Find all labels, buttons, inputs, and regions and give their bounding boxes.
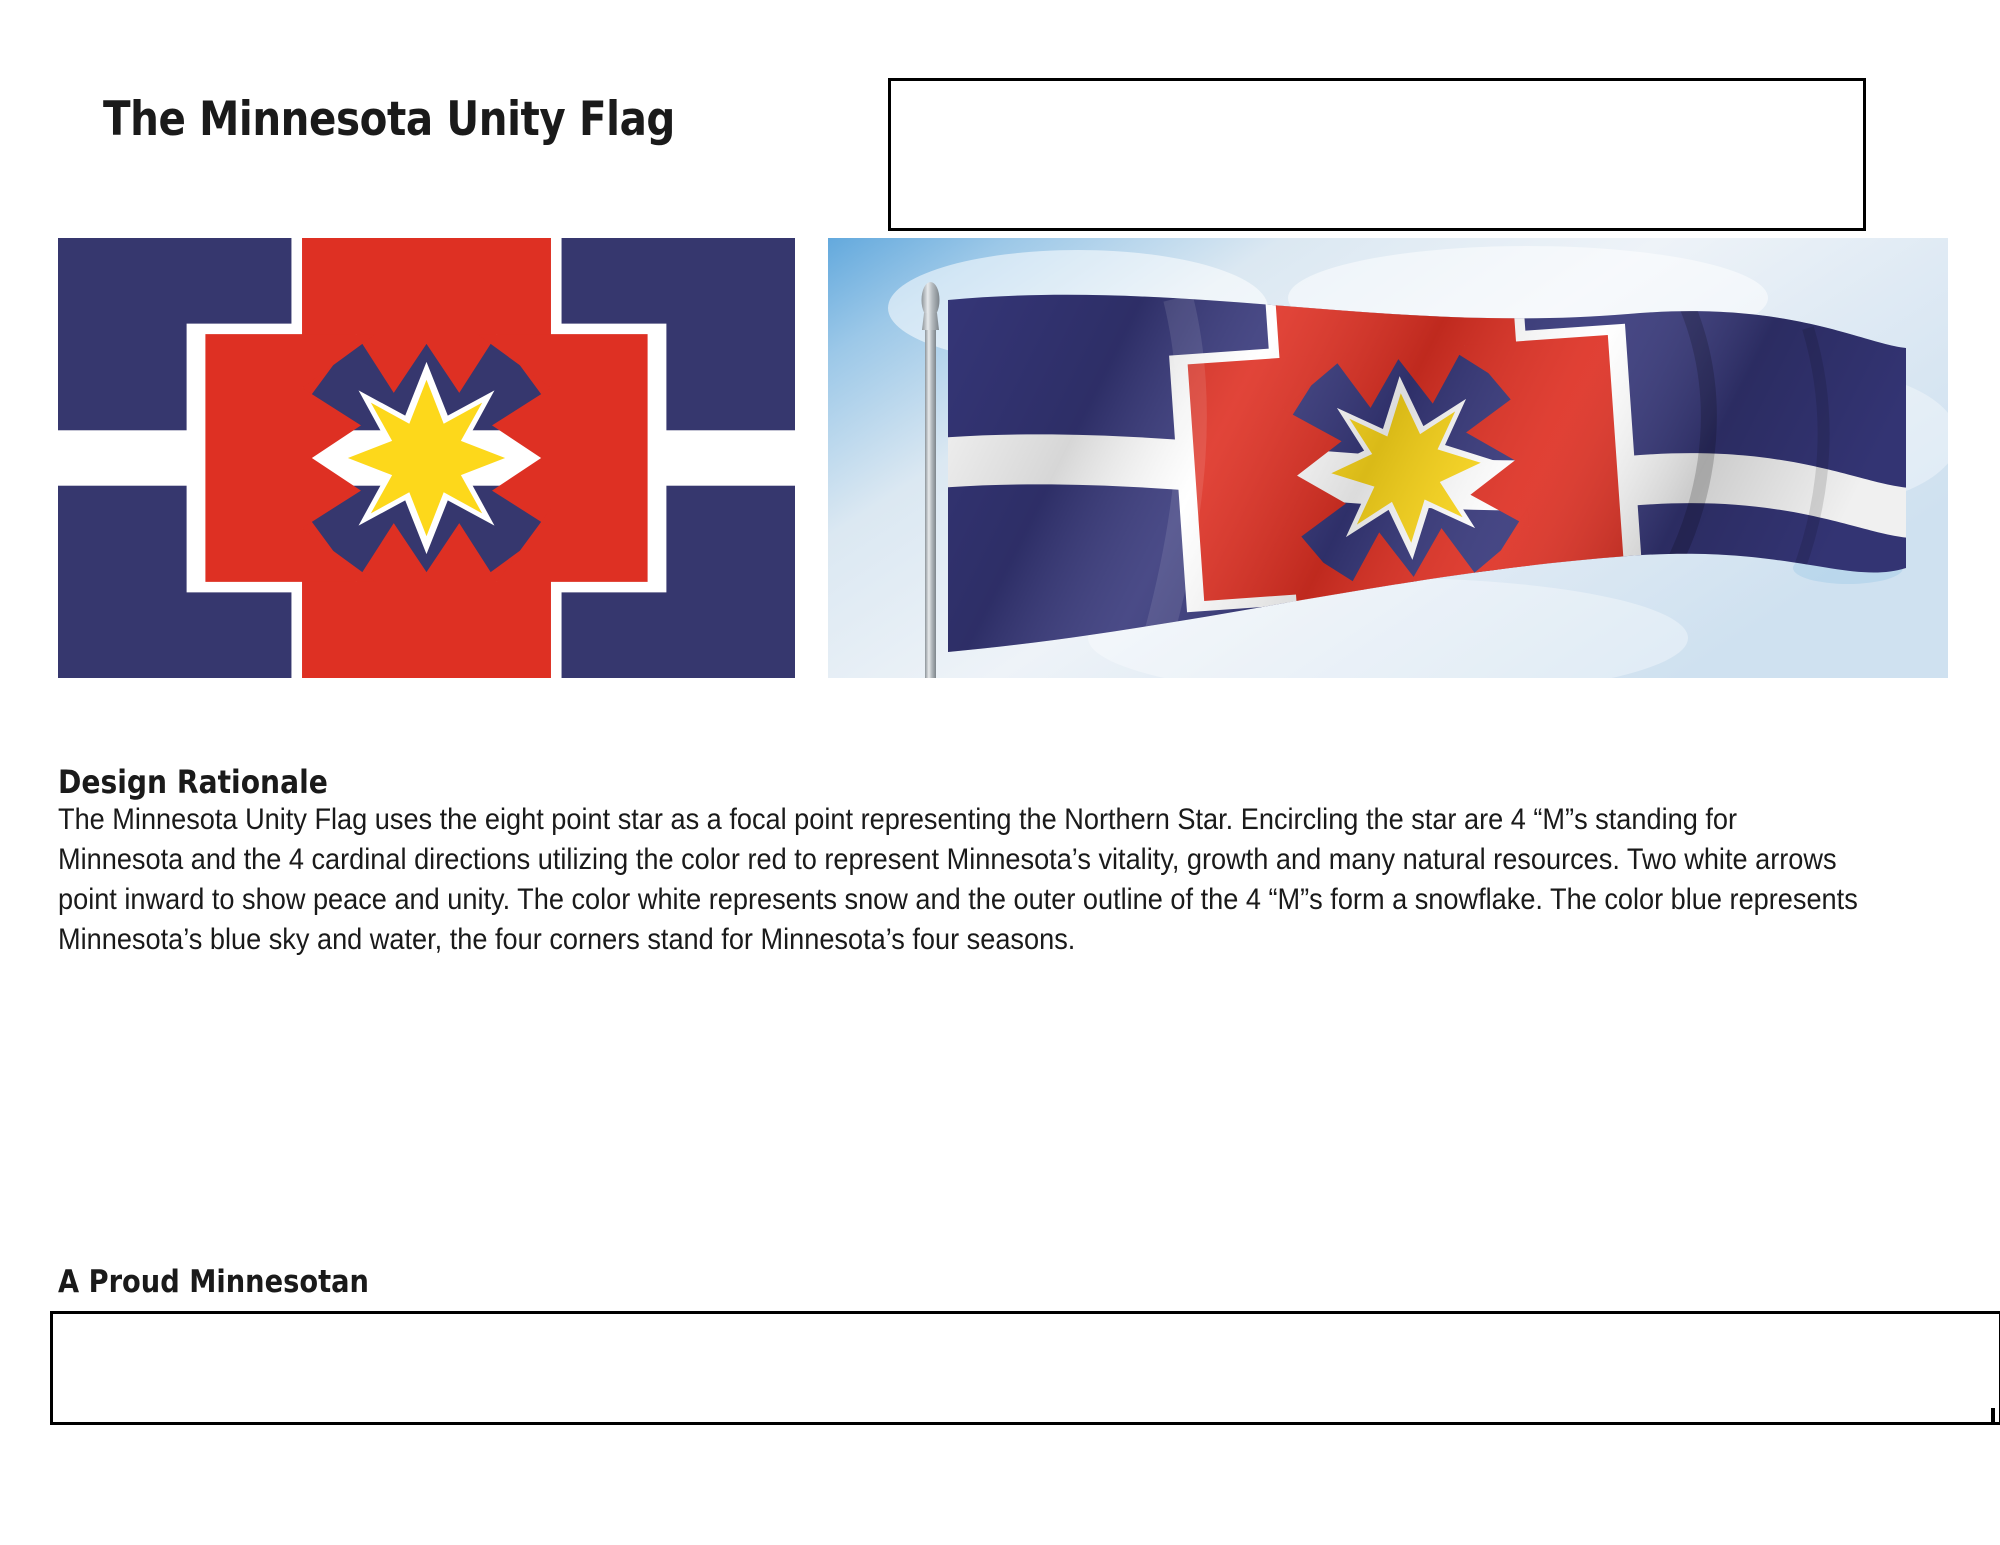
flag-vector (58, 238, 795, 678)
design-rationale-paragraph: The Minnesota Unity Flag uses the eight … (58, 800, 1861, 960)
minnesota-unity-flag-artwork (58, 238, 795, 678)
design-rationale-body: The Minnesota Unity Flag uses the eight … (58, 800, 1861, 960)
signature-heading: A Proud Minnesotan (58, 1264, 369, 1300)
page-title: The Minnesota Unity Flag (103, 92, 675, 147)
design-rationale-heading: Design Rationale (58, 763, 328, 801)
flag-photo-vector (828, 238, 1948, 678)
northern-star-yellow (348, 380, 505, 536)
minnesota-unity-flag-waving-photo (828, 238, 1948, 678)
page-edge-tick-mark (1991, 1408, 1995, 1422)
header-entry-box[interactable] (888, 78, 1866, 231)
signature-entry-box[interactable] (50, 1311, 2000, 1425)
